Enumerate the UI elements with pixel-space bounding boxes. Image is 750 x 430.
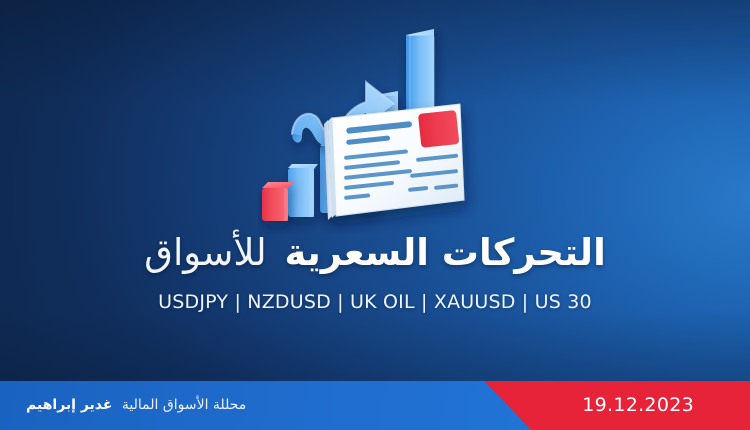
analyst-credit: محللة الأسواق المالية غدير إبراهيم [26,381,246,430]
publish-date: 19.12.2023 [582,381,694,430]
symbols-line: USDJPY | NZDUSD | UK OIL | XAUUSD | US 3… [0,289,750,315]
footer-bar: محللة الأسواق المالية غدير إبراهيم 19.12… [0,381,750,430]
banner-headline: التحركات السعرية للأسواق [0,231,750,275]
document-red-block [418,110,459,148]
blue-bar-small [288,164,318,217]
analyst-role: محللة الأسواق المالية [122,397,246,413]
banner-canvas: التحركات السعرية للأسواق USDJPY | NZDUSD… [0,0,750,430]
financial-growth-illustration [258,18,498,234]
headline-bold: التحركات السعرية [284,231,605,274]
headline-light: للأسواق [144,231,266,274]
news-document [324,104,464,220]
analyst-name: غدير إبراهيم [26,397,112,413]
